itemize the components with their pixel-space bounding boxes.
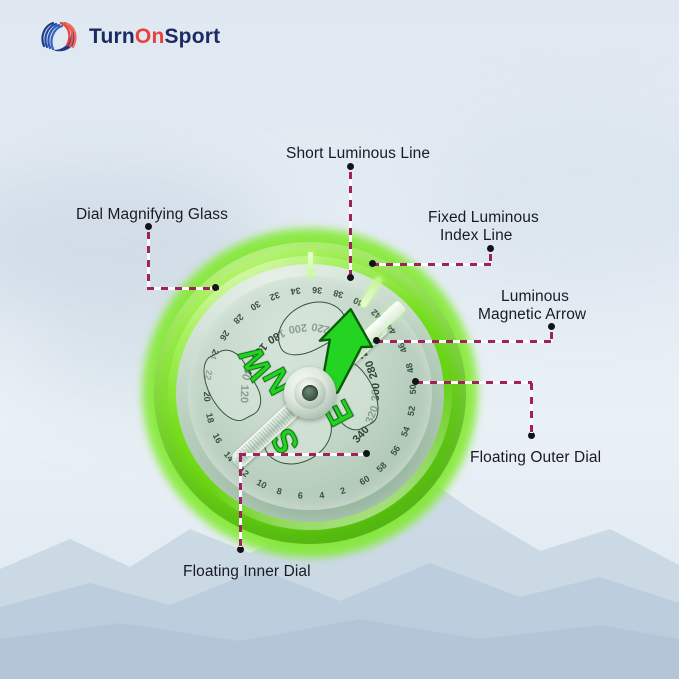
brand-word-on: On <box>135 25 165 48</box>
dial-scale-46: 46 <box>396 341 409 354</box>
label-dial-magnifying-glass: Dial Magnifying Glass <box>76 205 228 224</box>
dot-luminous-magnetic-arrow <box>548 323 555 330</box>
compass-pivot-hub <box>284 367 336 419</box>
dial-scale-60: 60 <box>358 473 372 487</box>
dot-fixed-luminous-index-line <box>487 245 494 252</box>
anchor-dial-magnifying-glass <box>212 284 219 291</box>
dot-short-luminous-line <box>347 163 354 170</box>
dial-scale-58: 58 <box>374 460 388 474</box>
label-luminous-magnetic-arrow-1: Luminous <box>501 287 569 306</box>
leader-dial-magnifying-glass-v <box>147 232 150 288</box>
leader-floating-outer-dial-h <box>416 381 532 384</box>
dial-scale-48: 48 <box>404 362 416 374</box>
label-floating-outer-dial: Floating Outer Dial <box>470 448 601 467</box>
label-luminous-magnetic-arrow-2: Magnetic Arrow <box>478 305 586 324</box>
anchor-floating-outer-dial <box>412 378 419 385</box>
label-short-luminous-line: Short Luminous Line <box>286 144 430 163</box>
dial-scale-16: 16 <box>211 431 224 444</box>
dial-scale-54: 54 <box>399 425 412 438</box>
compass-product-image: 200220240260280300320340120140160180 246… <box>152 238 468 548</box>
swoosh-logo-icon <box>38 19 80 53</box>
dial-scale-50: 50 <box>408 384 418 394</box>
leader-dial-magnifying-glass-h <box>147 287 219 290</box>
brand-word-sport: Sport <box>164 25 220 48</box>
dial-scale-32: 32 <box>268 290 281 303</box>
product-infographic: TurnOnSport 2002202402602803003203401201… <box>0 0 679 679</box>
leader-fixed-luminous-index-line-h <box>372 263 491 266</box>
label-floating-inner-dial: Floating Inner Dial <box>183 562 311 581</box>
dot-floating-inner-dial <box>237 546 244 553</box>
dial-scale-6: 6 <box>297 490 303 500</box>
brand-word-turn: Turn <box>89 25 135 48</box>
anchor-floating-inner-dial <box>363 450 370 457</box>
leader-floating-inner-dial-h <box>239 453 367 456</box>
dial-scale-36: 36 <box>312 285 323 296</box>
dial-scale-30: 30 <box>249 299 263 313</box>
dial-scale-8: 8 <box>275 486 283 497</box>
leader-luminous-magnetic-arrow-h <box>376 340 552 343</box>
short-luminous-line-mark <box>308 252 313 278</box>
leader-floating-inner-dial-v <box>239 455 242 547</box>
leader-short-luminous-line-v <box>349 172 352 277</box>
dot-dial-magnifying-glass <box>145 223 152 230</box>
anchor-short-luminous-line <box>347 274 354 281</box>
brand-wordmark: TurnOnSport <box>89 26 220 47</box>
dial-scale-34: 34 <box>290 285 301 296</box>
label-fixed-luminous-index-line-1: Fixed Luminous <box>428 208 539 227</box>
dial-scale-38: 38 <box>332 288 344 300</box>
dial-scale-2: 2 <box>339 485 347 496</box>
dial-scale-4: 4 <box>319 490 325 501</box>
brand-logo: TurnOnSport <box>38 19 220 53</box>
dial-scale-26: 26 <box>218 328 232 342</box>
dial-scale-10: 10 <box>255 477 269 491</box>
dial-scale-18: 18 <box>204 412 216 424</box>
anchor-luminous-magnetic-arrow <box>373 337 380 344</box>
anchor-fixed-luminous-index-line <box>369 260 376 267</box>
dial-scale-28: 28 <box>231 312 245 326</box>
label-fixed-luminous-index-line-2: Index Line <box>440 226 513 245</box>
leader-floating-outer-dial-v <box>530 383 533 433</box>
dial-scale-56: 56 <box>388 444 402 458</box>
dial-scale-52: 52 <box>406 405 418 417</box>
dot-floating-outer-dial <box>528 432 535 439</box>
